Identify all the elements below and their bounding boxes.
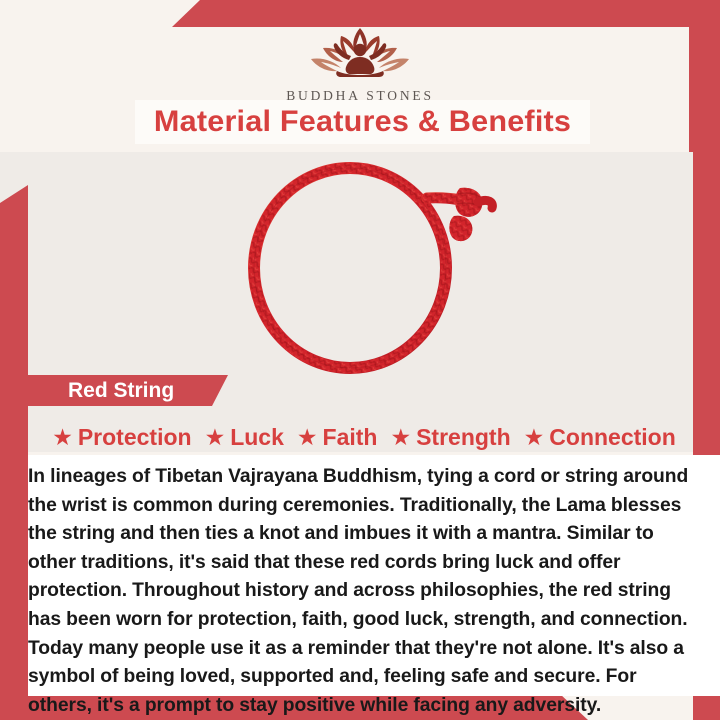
title-banner: Material Features & Benefits [135,100,590,144]
star-icon: ★ [52,426,73,449]
feature-item-faith: ★ Faith [297,424,378,451]
lotus-meditation-icon [301,22,419,84]
feature-item-strength: ★ Strength [390,424,510,451]
poster-canvas: BUDDHA STONES Material Features & Benefi… [0,0,720,720]
brand-logo: BUDDHA STONES [0,22,720,104]
feature-label: Connection [549,424,676,451]
feature-label: Protection [78,424,192,451]
feature-list: ★ Protection ★ Luck ★ Faith ★ Strength ★… [28,420,700,454]
page-title: Material Features & Benefits [154,105,571,139]
star-icon: ★ [524,426,545,449]
star-icon: ★ [205,426,226,449]
feature-item-protection: ★ Protection [52,424,191,451]
description-panel: In lineages of Tibetan Vajrayana Buddhis… [28,455,720,696]
decorative-bar-left [0,185,28,720]
star-icon: ★ [297,426,318,449]
star-icon: ★ [390,426,411,449]
red-string-bracelet-illustration [222,150,512,382]
feature-label: Faith [323,424,378,451]
product-image [222,150,512,382]
description-text: In lineages of Tibetan Vajrayana Buddhis… [28,463,690,720]
product-tag-label: Red String [68,379,174,403]
feature-item-connection: ★ Connection [524,424,676,451]
feature-label: Luck [230,424,284,451]
feature-item-luck: ★ Luck [205,424,284,451]
product-tag: Red String [28,375,228,406]
feature-label: Strength [416,424,511,451]
